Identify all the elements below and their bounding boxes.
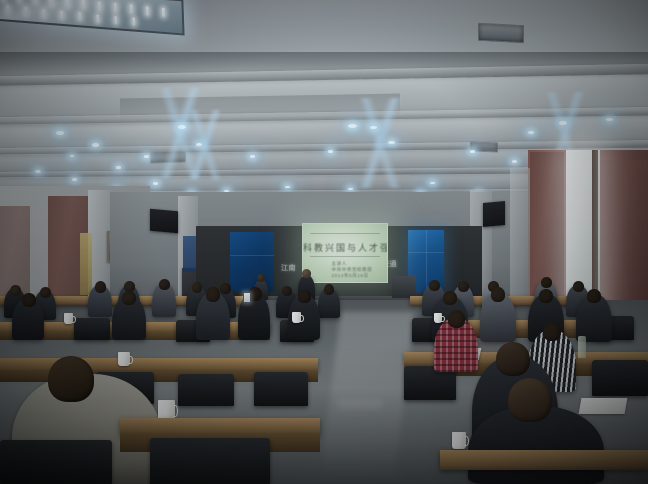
recessed-downlight: [178, 125, 186, 129]
attendee-head: [539, 289, 553, 303]
projection-screen: 科教兴国与人才强国 主讲人 中共中央党校教授 2014年5月16日: [302, 223, 388, 283]
attendee-head: [22, 293, 36, 307]
attendee-head: [543, 322, 561, 341]
conference-room-photo: 江南 交通 科教兴国与人才强国 主讲人 中共中央党校教授 2014年5月16日: [0, 0, 648, 484]
attendee-head: [206, 287, 220, 302]
panel-seam-right-v: [426, 230, 427, 292]
slide-title: 科教兴国与人才强国: [303, 241, 387, 254]
recessed-downlight: [528, 131, 534, 134]
attendee-head: [491, 287, 505, 302]
recessed-downlight: [328, 150, 333, 153]
attendee-head: [448, 310, 465, 328]
attendee-head: [282, 286, 292, 296]
white-mug[interactable]: [452, 432, 466, 449]
attendee-head: [159, 279, 170, 290]
desk-row-foreground-right: [440, 450, 648, 470]
auditorium-chair[interactable]: [178, 374, 234, 406]
recessed-downlight: [153, 182, 158, 185]
recessed-downlight: [144, 155, 149, 158]
attendee-head: [458, 281, 469, 292]
attendee-head: [443, 291, 457, 305]
auditorium-chair[interactable]: [592, 360, 648, 396]
floor-reflection: [338, 400, 382, 414]
attendee-head: [220, 283, 231, 294]
stage-logo-left: 江南: [281, 263, 296, 273]
white-mug[interactable]: [64, 313, 73, 324]
auditorium-chair[interactable]: [0, 440, 112, 484]
recessed-downlight: [512, 160, 517, 163]
attendee-head: [40, 287, 51, 298]
wall-loudspeaker-right: [483, 201, 505, 227]
attendee-head: [496, 342, 530, 376]
attendee-head: [324, 284, 334, 295]
attendee-head: [10, 285, 21, 296]
slide-rule-mid: [310, 256, 381, 257]
attendee-head: [429, 280, 440, 291]
attendee-head: [95, 281, 106, 293]
ceiling-air-vent: [478, 23, 524, 43]
recessed-downlight: [348, 124, 357, 128]
smartphone-raised[interactable]: [243, 292, 251, 303]
attendee-head: [48, 356, 94, 402]
recessed-downlight: [116, 166, 121, 169]
slide-line-3: 2014年5月16日: [332, 273, 369, 279]
auditorium-chair[interactable]: [74, 318, 110, 340]
panel-seam-left: [230, 255, 274, 256]
recessed-downlight: [56, 131, 64, 135]
attendee-head: [573, 281, 584, 292]
wall-banner: [80, 233, 92, 295]
attendee-head: [541, 277, 552, 288]
wall-loudspeaker-left: [150, 209, 178, 233]
presenter-head: [302, 269, 311, 278]
recessed-downlight: [196, 143, 202, 146]
white-mug[interactable]: [292, 312, 301, 323]
white-mug[interactable]: [118, 352, 130, 366]
stage-blue-panel-left: [230, 232, 274, 292]
podium: [392, 276, 416, 298]
attendee-head: [298, 290, 311, 303]
water-bottle[interactable]: [578, 336, 586, 358]
attendee-head: [122, 291, 136, 305]
auditorium-chair[interactable]: [254, 372, 308, 406]
recessed-downlight: [92, 143, 99, 147]
ceiling-air-vent-3: [150, 151, 186, 163]
recessed-downlight: [559, 121, 567, 125]
recessed-downlight: [35, 170, 41, 173]
recessed-downlight: [470, 150, 475, 153]
open-notebook[interactable]: [579, 398, 628, 414]
attendee-head: [587, 289, 601, 303]
stage-attendee-head: [257, 274, 265, 282]
attendee-head: [192, 282, 202, 293]
recessed-downlight: [72, 178, 77, 181]
recessed-downlight: [250, 155, 255, 158]
wall-notice-left: [183, 236, 196, 272]
white-mug[interactable]: [434, 313, 442, 323]
auditorium-chair[interactable]: [150, 438, 270, 484]
attendee-head: [508, 378, 552, 422]
slide-rule-top: [310, 233, 381, 234]
